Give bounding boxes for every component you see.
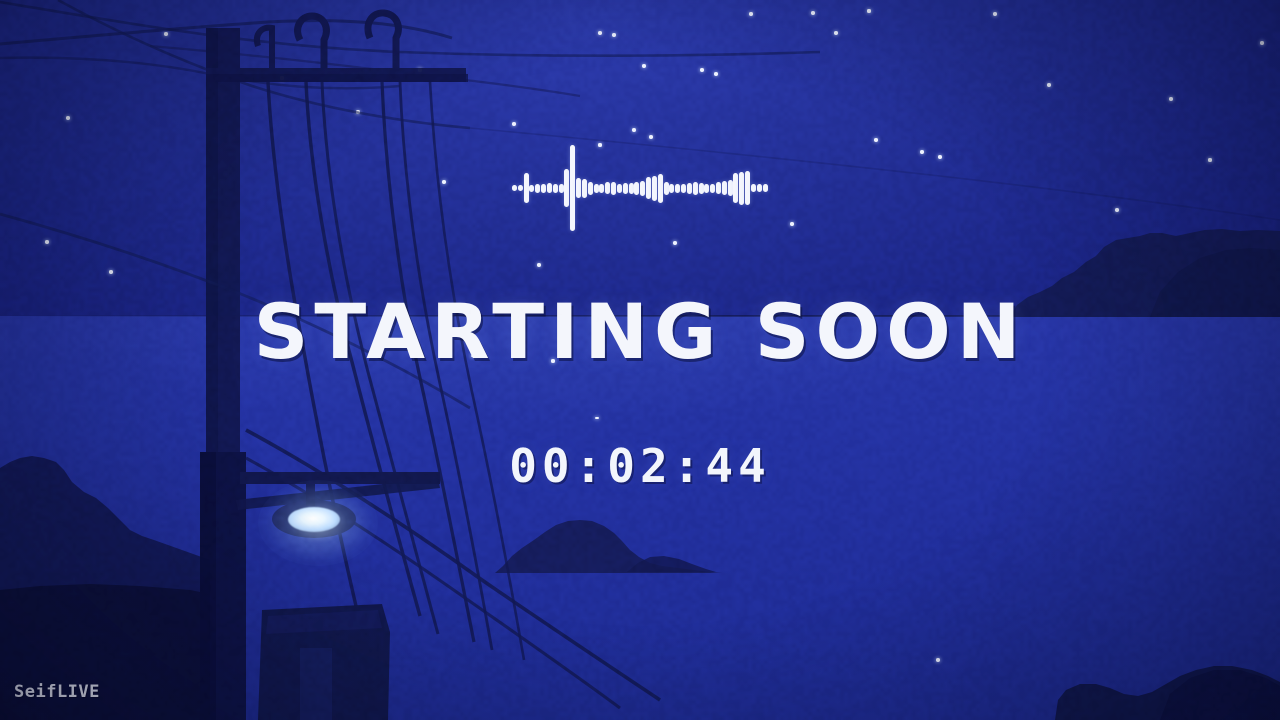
waveform-bar — [617, 184, 622, 193]
waveform-bar — [594, 184, 599, 193]
waveform-bar — [524, 173, 529, 203]
waveform-bar — [541, 184, 546, 193]
waveform-bar — [728, 180, 733, 196]
waveform-bar — [588, 182, 593, 195]
waveform-bar — [757, 184, 762, 192]
waveform-bar — [664, 182, 669, 195]
waveform-bar — [518, 185, 523, 191]
waveform-bar — [623, 183, 628, 194]
waveform-bar — [716, 182, 721, 194]
page-title: STARTING SOON — [0, 292, 1280, 372]
waveform-bar — [576, 178, 581, 198]
waveform-bar — [669, 184, 674, 193]
waveform-bar — [553, 184, 558, 193]
waveform-bar — [634, 182, 639, 195]
countdown-timer: 00:02:44 — [0, 440, 1280, 492]
audio-waveform-visualizer — [512, 142, 768, 234]
insulator-hook-3 — [257, 28, 272, 70]
waveform-bar — [559, 184, 564, 193]
pole-base-shade — [200, 452, 216, 720]
waveform-bar — [640, 181, 645, 196]
waveform-bar — [599, 184, 604, 193]
waveform-bar — [658, 174, 663, 203]
waveform-bar — [693, 182, 698, 195]
waveform-bar — [763, 184, 768, 192]
waveform-bar — [704, 184, 709, 193]
pole-mast-shade — [206, 28, 218, 458]
waveform-bar — [564, 169, 569, 207]
pole-crossarm-upper-shade — [206, 74, 468, 82]
street-lamp-bulb — [288, 507, 340, 532]
waveform-bar — [652, 176, 657, 201]
channel-watermark: SeifLIVE — [14, 682, 100, 702]
waveform-bar — [675, 184, 680, 193]
waveform-bar — [547, 183, 552, 193]
stream-starting-soon-screen: STARTING SOON 00:02:44 SeifLIVE — [0, 0, 1280, 720]
waveform-bar — [611, 182, 616, 195]
utility-box-panel — [300, 648, 332, 720]
waveform-bar — [681, 184, 686, 193]
waveform-bar — [722, 181, 727, 195]
insulator-hook-2 — [368, 13, 398, 70]
waveform-bar — [751, 184, 756, 192]
waveform-bar — [733, 173, 738, 203]
waveform-bar — [582, 179, 587, 198]
waveform-bar — [745, 171, 750, 205]
overhead-wire-4 — [58, 0, 470, 128]
waveform-bar — [687, 183, 692, 194]
waveform-bar — [535, 184, 540, 193]
waveform-bar — [512, 185, 517, 191]
waveform-bar — [699, 183, 704, 194]
waveform-bar — [529, 185, 534, 192]
waveform-bar — [739, 172, 744, 205]
waveform-bar — [646, 177, 651, 199]
waveform-bar — [710, 184, 715, 193]
waveform-bar — [629, 183, 634, 194]
waveform-bar — [605, 182, 610, 194]
waveform-bar — [570, 145, 575, 231]
